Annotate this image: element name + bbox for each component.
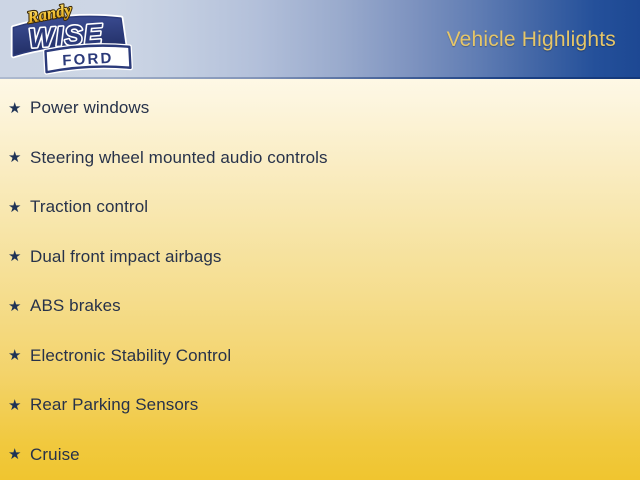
highlight-label: Rear Parking Sensors [30, 395, 198, 415]
vehicle-highlights-slide: WISE WISE Randy Randy FORD Vehicle Highl… [0, 0, 640, 480]
list-item: ★Dual front impact airbags [8, 245, 221, 269]
star-icon: ★ [8, 348, 30, 363]
star-icon: ★ [8, 150, 30, 165]
list-item: ★Rear Parking Sensors [8, 393, 198, 417]
highlight-label: Dual front impact airbags [30, 247, 221, 267]
star-icon: ★ [8, 447, 30, 462]
highlight-label: Traction control [30, 197, 148, 217]
list-item: ★ABS brakes [8, 294, 121, 318]
list-item: ★Steering wheel mounted audio controls [8, 146, 328, 170]
highlight-label: Steering wheel mounted audio controls [30, 148, 328, 168]
highlight-label: Electronic Stability Control [30, 346, 231, 366]
highlight-label: Power windows [30, 98, 149, 118]
list-item: ★Traction control [8, 195, 148, 219]
page-title: Vehicle Highlights [447, 28, 616, 52]
list-item: ★Power windows [8, 96, 149, 120]
svg-text:FORD: FORD [62, 50, 114, 70]
star-icon: ★ [8, 200, 30, 215]
randy-wise-ford-logo: WISE WISE Randy Randy FORD [4, 2, 140, 78]
star-icon: ★ [8, 101, 30, 116]
star-icon: ★ [8, 398, 30, 413]
highlight-label: ABS brakes [30, 296, 121, 316]
star-icon: ★ [8, 249, 30, 264]
list-item: ★Electronic Stability Control [8, 344, 231, 368]
vehicle-highlights-list: ★Power windows★Steering wheel mounted au… [0, 79, 640, 480]
list-item: ★Cruise [8, 443, 80, 467]
highlight-label: Cruise [30, 445, 80, 465]
header-bar: WISE WISE Randy Randy FORD Vehicle Highl… [0, 0, 640, 79]
star-icon: ★ [8, 299, 30, 314]
